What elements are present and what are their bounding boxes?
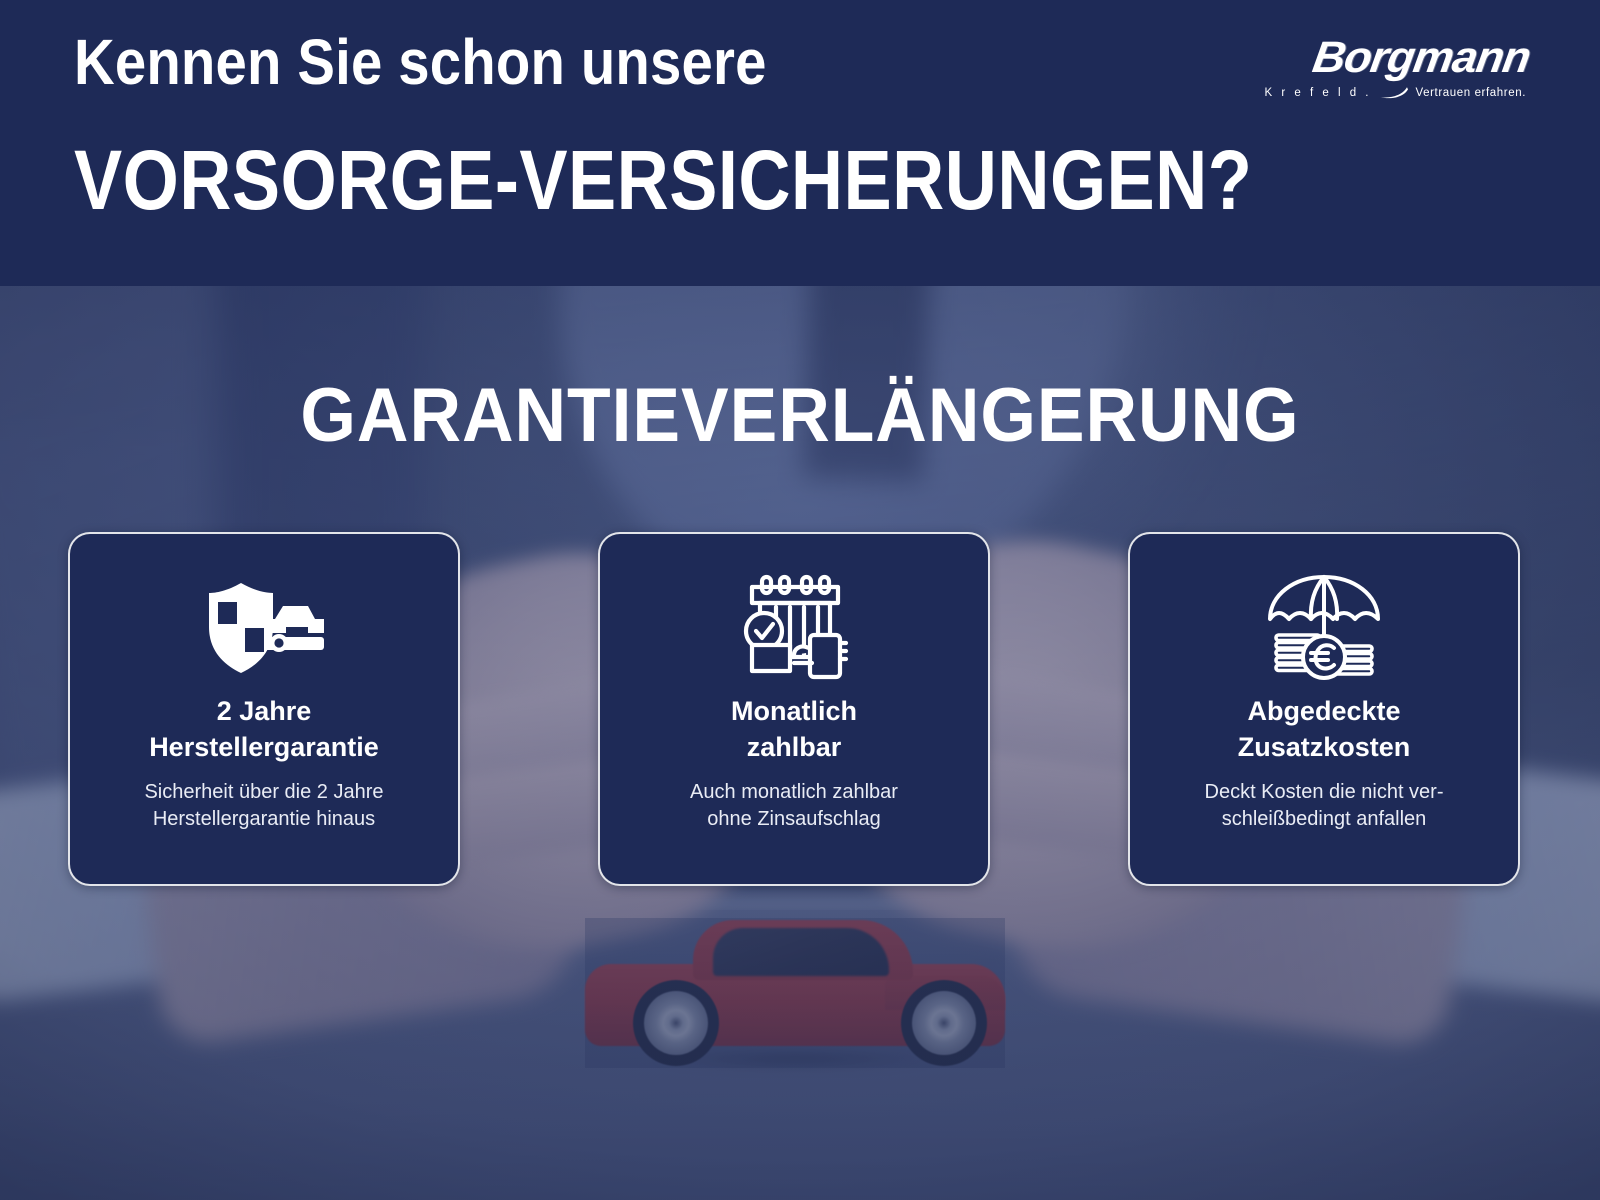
feature-card-row: 2 Jahre Herstellergarantie Sicherheit üb… — [68, 532, 1520, 886]
headline: Kennen Sie schon unsere VORSORGE-VERSICH… — [74, 30, 1314, 222]
feature-card-extra-costs[interactable]: Abgedeckte Zusatzkosten Deckt Kosten die… — [1128, 532, 1520, 886]
feature-card-warranty[interactable]: 2 Jahre Herstellergarantie Sicherheit üb… — [68, 532, 460, 886]
feature-card-monthly-payment[interactable]: Monatlich zahlbar Auch monatlich zahlbar… — [598, 532, 990, 886]
headline-line-2: VORSORGE-VERSICHERUNGEN? — [74, 138, 1140, 222]
card-description: Auch monatlich zahlbar ohne Zinsaufschla… — [690, 779, 898, 833]
card-description: Deckt Kosten die nicht ver- schleißbedin… — [1205, 779, 1444, 833]
card-desc-line-2: Herstellergarantie hinaus — [144, 806, 383, 833]
shield-car-icon — [200, 568, 328, 686]
card-title: Abgedeckte Zusatzkosten — [1238, 694, 1411, 765]
card-title-line-2: Zusatzkosten — [1238, 730, 1411, 766]
logo-wordmark: Borgmann — [1291, 36, 1533, 80]
card-title-line-2: zahlbar — [731, 730, 857, 766]
card-title-line-2: Herstellergarantie — [149, 730, 379, 766]
headline-line-1: Kennen Sie schon unsere — [74, 30, 1165, 94]
logo-tagline: Vertrauen erfahren. — [1416, 87, 1527, 99]
card-desc-line-1: Sicherheit über die 2 Jahre — [144, 779, 383, 806]
card-desc-line-1: Deckt Kosten die nicht ver- — [1205, 779, 1444, 806]
card-desc-line-2: schleißbedingt anfallen — [1205, 806, 1444, 833]
card-title-line-1: Abgedeckte — [1238, 694, 1411, 730]
page-title: GARANTIEVERLÄNGERUNG — [48, 378, 1552, 454]
card-desc-line-2: ohne Zinsaufschlag — [690, 806, 898, 833]
header-band: Kennen Sie schon unsere VORSORGE-VERSICH… — [0, 0, 1600, 286]
swoosh-icon — [1379, 86, 1409, 99]
card-title-line-1: 2 Jahre — [149, 694, 379, 730]
card-title: Monatlich zahlbar — [731, 694, 857, 765]
calendar-check-money-icon — [736, 568, 852, 686]
card-desc-line-1: Auch monatlich zahlbar — [690, 779, 898, 806]
card-description: Sicherheit über die 2 Jahre Herstellerga… — [144, 779, 383, 833]
brand-logo[interactable]: Borgmann K r e f e l d . Vertrauen erfah… — [1296, 36, 1526, 112]
umbrella-euro-coins-icon — [1262, 568, 1386, 686]
logo-city: K r e f e l d . — [1265, 87, 1372, 99]
card-title: 2 Jahre Herstellergarantie — [149, 694, 379, 765]
logo-tagline-row: K r e f e l d . Vertrauen erfahren. — [1296, 86, 1526, 99]
card-title-line-1: Monatlich — [731, 694, 857, 730]
banner-canvas: Kennen Sie schon unsere VORSORGE-VERSICH… — [0, 0, 1600, 1200]
